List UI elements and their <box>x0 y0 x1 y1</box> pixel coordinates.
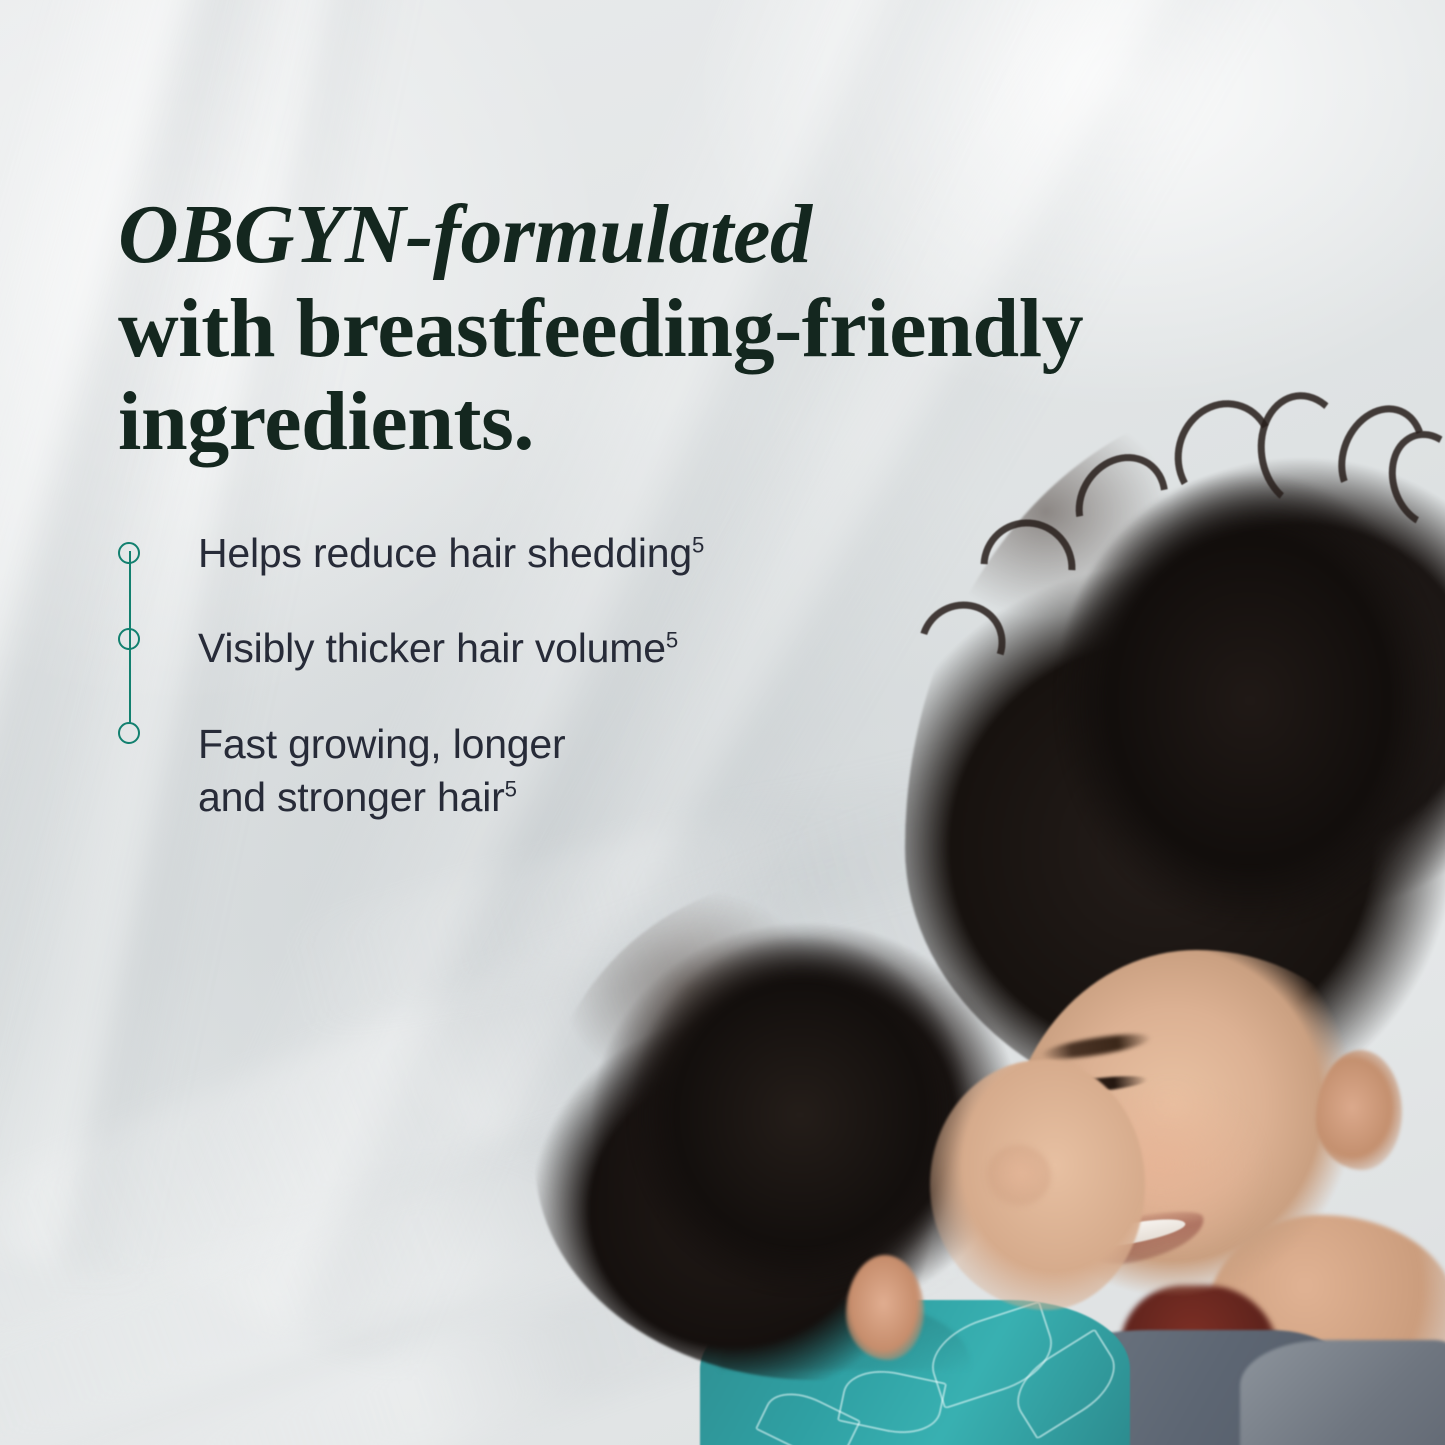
benefits-section: Helps reduce hair shedding5 Visibly thic… <box>118 527 898 824</box>
list-item: Fast growing, longerand stronger hair5 <box>118 718 898 825</box>
child-hair-mass <box>620 920 980 1310</box>
footnote-marker: 5 <box>666 628 678 653</box>
footnote-marker: 5 <box>505 776 517 801</box>
benefit-text: Fast growing, longer <box>198 721 565 767</box>
child-ear <box>846 1255 924 1360</box>
headline-line-1: OBGYN-formulated <box>118 188 1238 281</box>
benefit-text-line-2: and stronger hair5 <box>198 771 898 824</box>
headline-line-2: with breastfeeding-friendly <box>118 282 1238 375</box>
page-title: OBGYN-formulated with breastfeeding-frie… <box>118 188 1238 468</box>
promo-card: OBGYN-formulated with breastfeeding-frie… <box>0 0 1445 1445</box>
child-nose <box>985 1145 1051 1207</box>
footnote-marker: 5 <box>692 532 704 557</box>
headline-line-3: ingredients. <box>118 375 1238 468</box>
list-item: Helps reduce hair shedding5 <box>118 527 898 580</box>
benefit-text: Helps reduce hair shedding <box>198 530 692 576</box>
list-item: Visibly thicker hair volume5 <box>118 622 898 675</box>
benefit-list: Helps reduce hair shedding5 Visibly thic… <box>118 527 898 824</box>
benefit-text-continued: and stronger hair <box>198 774 505 820</box>
benefit-text: Visibly thicker hair volume <box>198 625 666 671</box>
